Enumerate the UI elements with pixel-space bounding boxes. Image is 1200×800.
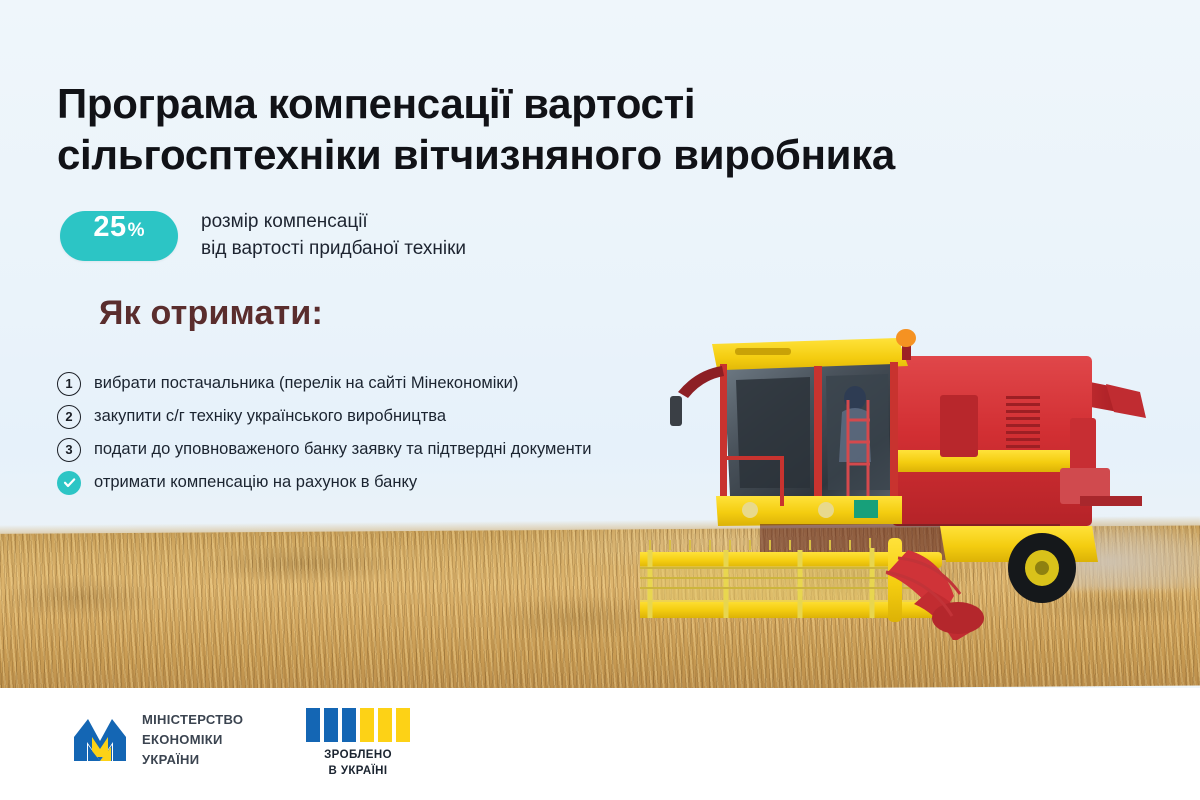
content-area: Програма компенсації вартості сільгоспте… [0, 0, 760, 520]
made-in-ukraine-text: ЗРОБЛЕНО В УКРАЇНІ [302, 748, 414, 779]
steps-list: 1 вибрати постачальника (перелік на сайт… [57, 368, 747, 500]
percentage-value: 25 [93, 211, 126, 244]
ministry-line-3: УКРАЇНИ [142, 750, 243, 770]
badge-description: розмір компенсації від вартості придбано… [201, 209, 466, 263]
list-item: 1 вибрати постачальника (перелік на сайт… [57, 368, 747, 399]
step-number-3-icon: 3 [57, 438, 81, 462]
step-number-1-icon: 1 [57, 372, 81, 396]
flag-bar-blue-3 [342, 708, 356, 742]
made-in-ukraine-bars-icon [302, 708, 414, 742]
step-text-2: закупити с/г техніку українського виробн… [94, 407, 446, 426]
percent-symbol: % [128, 220, 145, 242]
percentage-badge: 25 % [60, 211, 178, 261]
badge-description-line-1: розмір компенсації [201, 209, 466, 236]
step-number-3-label: 3 [57, 438, 81, 462]
step-text-4: отримати компенсацію на рахунок в банку [94, 473, 417, 492]
flag-bar-yellow-3 [396, 708, 410, 742]
made-line-2: В УКРАЇНІ [302, 764, 414, 780]
flag-bar-blue-1 [306, 708, 320, 742]
step-text-1: вибрати постачальника (перелік на сайті … [94, 374, 518, 393]
title-line-2: сільгосптехніки вітчизняного виробника [57, 129, 1057, 180]
ministry-m-mark-icon [72, 711, 128, 768]
checkmark-icon [57, 471, 81, 495]
step-text-3: подати до уповноваженого банку заявку та… [94, 440, 591, 459]
footer: МІНІСТЕРСТВО ЕКОНОМІКИ УКРАЇНИ ЗРОБЛЕНО … [0, 688, 1200, 800]
infographic-poster: Програма компенсації вартості сільгоспте… [0, 0, 1200, 800]
flag-bar-yellow-1 [360, 708, 374, 742]
ministry-name: МІНІСТЕРСТВО ЕКОНОМІКИ УКРАЇНИ [142, 710, 243, 769]
title-line-1: Програма компенсації вартості [57, 78, 1057, 129]
made-in-ukraine-logo: ЗРОБЛЕНО В УКРАЇНІ [302, 708, 414, 779]
flag-bar-blue-2 [324, 708, 338, 742]
list-item: 2 закупити с/г техніку українського виро… [57, 401, 747, 432]
flag-bar-yellow-2 [378, 708, 392, 742]
compensation-badge-row: 25 % розмір компенсації від вартості при… [60, 209, 466, 263]
step-number-1-label: 1 [57, 372, 81, 396]
step-number-2-label: 2 [57, 405, 81, 429]
howto-heading: Як отримати: [99, 294, 323, 333]
page-title: Програма компенсації вартості сільгоспте… [57, 78, 1057, 180]
ministry-line-1: МІНІСТЕРСТВО [142, 710, 243, 730]
step-number-2-icon: 2 [57, 405, 81, 429]
list-item: 3 подати до уповноваженого банку заявку … [57, 434, 747, 465]
check-circle [57, 471, 81, 495]
ministry-line-2: ЕКОНОМІКИ [142, 730, 243, 750]
list-item: отримати компенсацію на рахунок в банку [57, 467, 747, 498]
badge-description-line-2: від вартості придбаної техніки [201, 236, 466, 263]
made-line-1: ЗРОБЛЕНО [302, 748, 414, 764]
ministry-logo: МІНІСТЕРСТВО ЕКОНОМІКИ УКРАЇНИ [72, 710, 243, 769]
